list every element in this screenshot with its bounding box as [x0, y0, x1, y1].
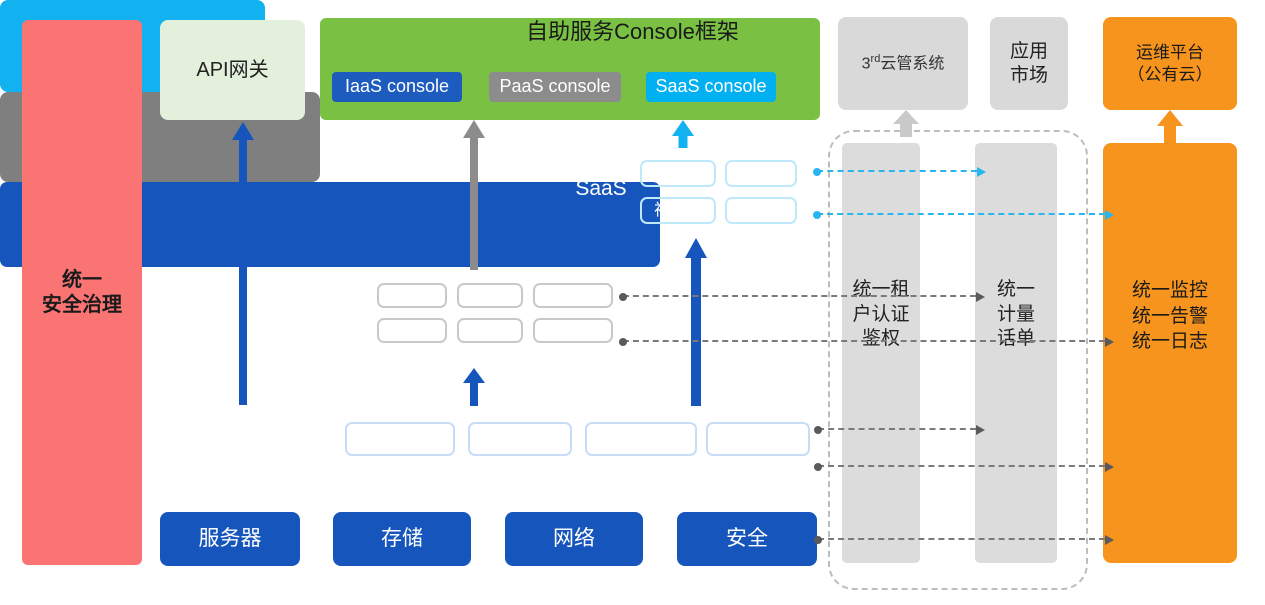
unified-monitoring-label: 统一监控 统一告警 统一日志 [1103, 278, 1237, 355]
architecture-diagram: 统一 安全治理 API网关 自助服务Console框架 IaaS console… [0, 0, 1265, 605]
saas-item-label: 桌面云 [737, 202, 785, 220]
infra-item-label: Compute [361, 429, 438, 450]
hardware-item-label: 安全 [726, 526, 768, 552]
dashed-hardware-to-monitoring [818, 538, 1105, 540]
infra-item-cce[interactable]: CCE [706, 422, 810, 456]
unified-security-governance-panel: 统一 安全治理 [22, 20, 142, 565]
arrow-shared-to-third-party-cloud [893, 110, 919, 137]
dashed-saas-to-auth [817, 170, 977, 172]
dashed-paas-to-auth [623, 295, 976, 297]
paas-item-label: ModelArts [541, 288, 604, 303]
hardware-item-label: 服务器 [199, 526, 262, 552]
paas-item-roma[interactable]: ROMA [377, 283, 447, 308]
ops-right-line3: 统一日志 [1103, 329, 1237, 355]
paas-item-bigdata[interactable]: 大数据 [533, 318, 613, 343]
third-party-cloud-management-box: 3rd云管系统 [838, 17, 968, 110]
app-market-label-line2: 市场 [1010, 64, 1048, 88]
api-gateway-label: API网关 [196, 58, 268, 83]
security-label-line1: 统一 [42, 268, 122, 293]
paas-item-modelarts[interactable]: ModelArts [533, 283, 613, 308]
paas-item-cache[interactable]: 缓存 [457, 318, 523, 343]
paas-layer-label: PaaS [313, 301, 377, 325]
ops-platform-public-cloud-box: 运维平台 （公有云） [1103, 17, 1237, 110]
hardware-item-network[interactable]: 网络 [505, 512, 643, 566]
infra-item-label: CCE [738, 429, 778, 450]
infra-item-compute[interactable]: Compute [345, 422, 455, 456]
metering-line2: 计量 [975, 303, 1057, 328]
third-party-cloud-label: 3rd云管系统 [862, 53, 945, 74]
iaas-console-label: IaaS console [345, 77, 449, 97]
arrow-monitoring-to-ops-platform [1157, 110, 1183, 145]
paas-item-label: DGC [474, 288, 505, 303]
ops-platform-label-line1: 运维平台 [1128, 42, 1213, 63]
arrow-infra-to-api-gateway [232, 122, 254, 405]
arrow-infra-to-saas [684, 238, 708, 406]
ops-right-line2: 统一告警 [1103, 304, 1237, 330]
hardware-item-server[interactable]: 服务器 [160, 512, 300, 566]
saas-console-label: SaaS console [655, 77, 766, 97]
saas-item-label: 区块链 [654, 165, 702, 183]
paas-item-label: 大数据 [552, 323, 594, 338]
paas-item-label: 数据库 [391, 323, 433, 338]
app-market-label-line1: 应用 [1010, 40, 1048, 64]
saas-item-desktop-cloud[interactable]: 桌面云 [725, 197, 797, 224]
auth-line2: 户认证 [842, 303, 920, 328]
iaas-console-chip[interactable]: IaaS console [332, 72, 462, 102]
infra-item-network[interactable]: Network [585, 422, 697, 456]
hardware-item-label: 存储 [381, 526, 423, 552]
saas-item-label: 视频云 [654, 202, 702, 220]
saas-item-blockchain[interactable]: 区块链 [640, 160, 716, 187]
unified-tenant-auth-column [842, 143, 920, 563]
paas-console-label: PaaS console [499, 77, 610, 97]
auth-line1: 统一租 [842, 278, 920, 303]
infra-item-storage[interactable]: Storage [468, 422, 572, 456]
infra-item-label: Storage [487, 429, 554, 450]
dashed-saas-to-monitoring [817, 213, 1105, 215]
infrastructure-label: 统一基础设施服务 [175, 427, 335, 456]
hardware-item-label: 网络 [553, 526, 595, 552]
arrow-saas-to-console [672, 120, 694, 148]
infra-item-label: Network [606, 429, 676, 450]
paas-console-chip[interactable]: PaaS console [489, 72, 621, 102]
paas-item-database[interactable]: 数据库 [377, 318, 447, 343]
app-market-box: 应用 市场 [990, 17, 1068, 110]
saas-item-iot[interactable]: IoT [725, 160, 797, 187]
arrow-paas-to-console [463, 120, 485, 270]
arrow-infra-to-paas [463, 368, 485, 406]
saas-item-label: IoT [749, 165, 772, 183]
paas-item-dgc[interactable]: DGC [457, 283, 523, 308]
paas-item-label: 缓存 [476, 323, 504, 338]
console-framework-title: 自助服务Console框架 [0, 14, 1265, 46]
hardware-item-security[interactable]: 安全 [677, 512, 817, 566]
saas-layer-label: SaaS [566, 177, 636, 201]
ops-platform-label-line2: （公有云） [1128, 64, 1213, 85]
dashed-infra-to-monitoring [818, 465, 1105, 467]
unified-metering-column [975, 143, 1057, 563]
security-label-line2: 安全治理 [42, 293, 122, 318]
dashed-paas-to-monitoring [623, 340, 1105, 342]
paas-item-label: ROMA [391, 288, 433, 303]
metering-line1: 统一 [975, 278, 1057, 303]
hardware-item-storage[interactable]: 存储 [333, 512, 471, 566]
ops-right-line1: 统一监控 [1103, 278, 1237, 304]
dashed-infra-to-auth [818, 428, 976, 430]
saas-console-chip[interactable]: SaaS console [646, 72, 776, 102]
saas-item-video-cloud[interactable]: 视频云 [640, 197, 716, 224]
